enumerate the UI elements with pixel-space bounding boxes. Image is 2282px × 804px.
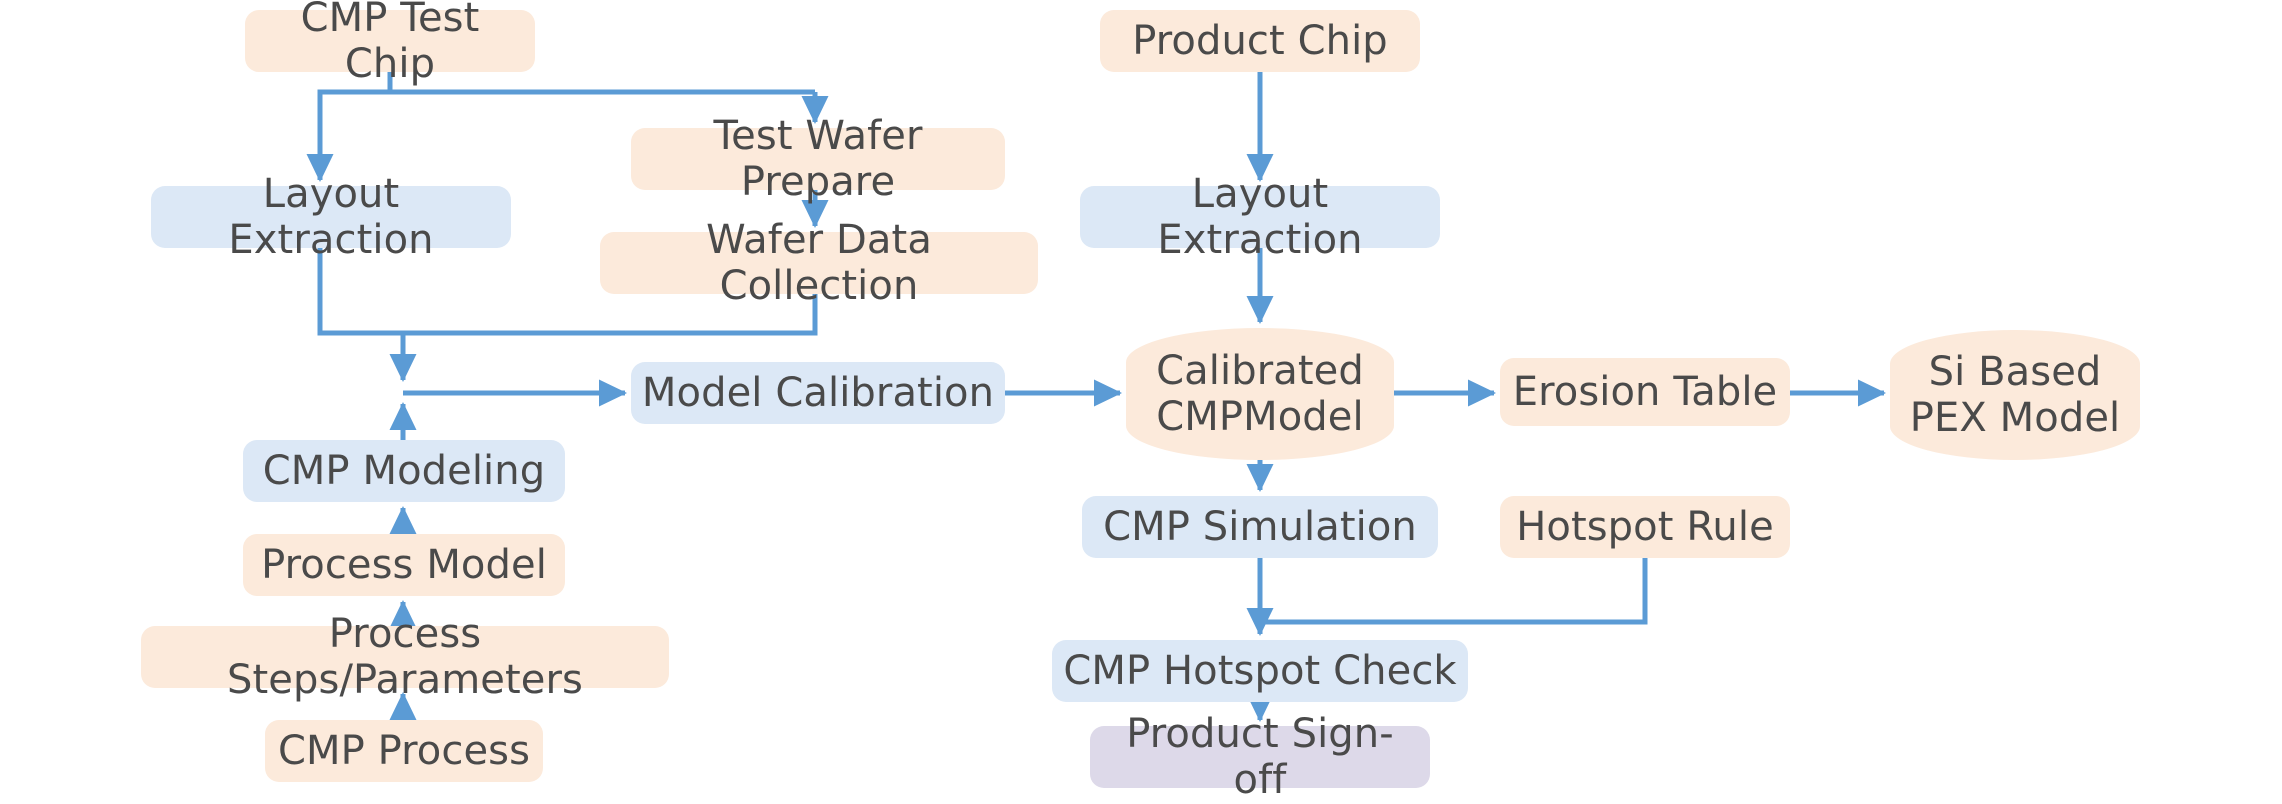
node-cmp-simulation[interactable]: CMP Simulation — [1082, 496, 1438, 558]
node-product-sign-off[interactable]: Product Sign-off — [1090, 726, 1430, 788]
node-calibrated-cmpmodel[interactable]: Calibrated CMPModel — [1126, 328, 1394, 460]
node-product-chip[interactable]: Product Chip — [1100, 10, 1420, 72]
node-model-calibration[interactable]: Model Calibration — [631, 362, 1005, 424]
node-cmp-hotspot-check[interactable]: CMP Hotspot Check — [1052, 640, 1468, 702]
node-erosion-table[interactable]: Erosion Table — [1500, 358, 1790, 426]
node-process-steps-parameters[interactable]: Process Steps/Parameters — [141, 626, 669, 688]
node-cmp-process[interactable]: CMP Process — [265, 720, 543, 782]
node-wafer-data-collection[interactable]: Wafer Data Collection — [600, 232, 1038, 294]
edge-hotspot-rule-to-cmp-hotspot-check — [1260, 558, 1645, 622]
node-cmp-test-chip[interactable]: CMP Test Chip — [245, 10, 535, 72]
node-si-based-pex-model[interactable]: Si Based PEX Model — [1890, 330, 2140, 460]
node-test-wafer-prepare[interactable]: Test Wafer Prepare — [631, 128, 1005, 190]
node-process-model[interactable]: Process Model — [243, 534, 565, 596]
node-cmp-modeling[interactable]: CMP Modeling — [243, 440, 565, 502]
node-layout-extraction-right[interactable]: Layout Extraction — [1080, 186, 1440, 248]
edge-cmp-test-chip-to-layout-extraction — [320, 92, 390, 180]
node-layout-extraction-left[interactable]: Layout Extraction — [151, 186, 511, 248]
node-hotspot-rule[interactable]: Hotspot Rule — [1500, 496, 1790, 558]
flowchart-canvas: CMP Test Chip Test Wafer Prepare Layout … — [0, 0, 2282, 804]
